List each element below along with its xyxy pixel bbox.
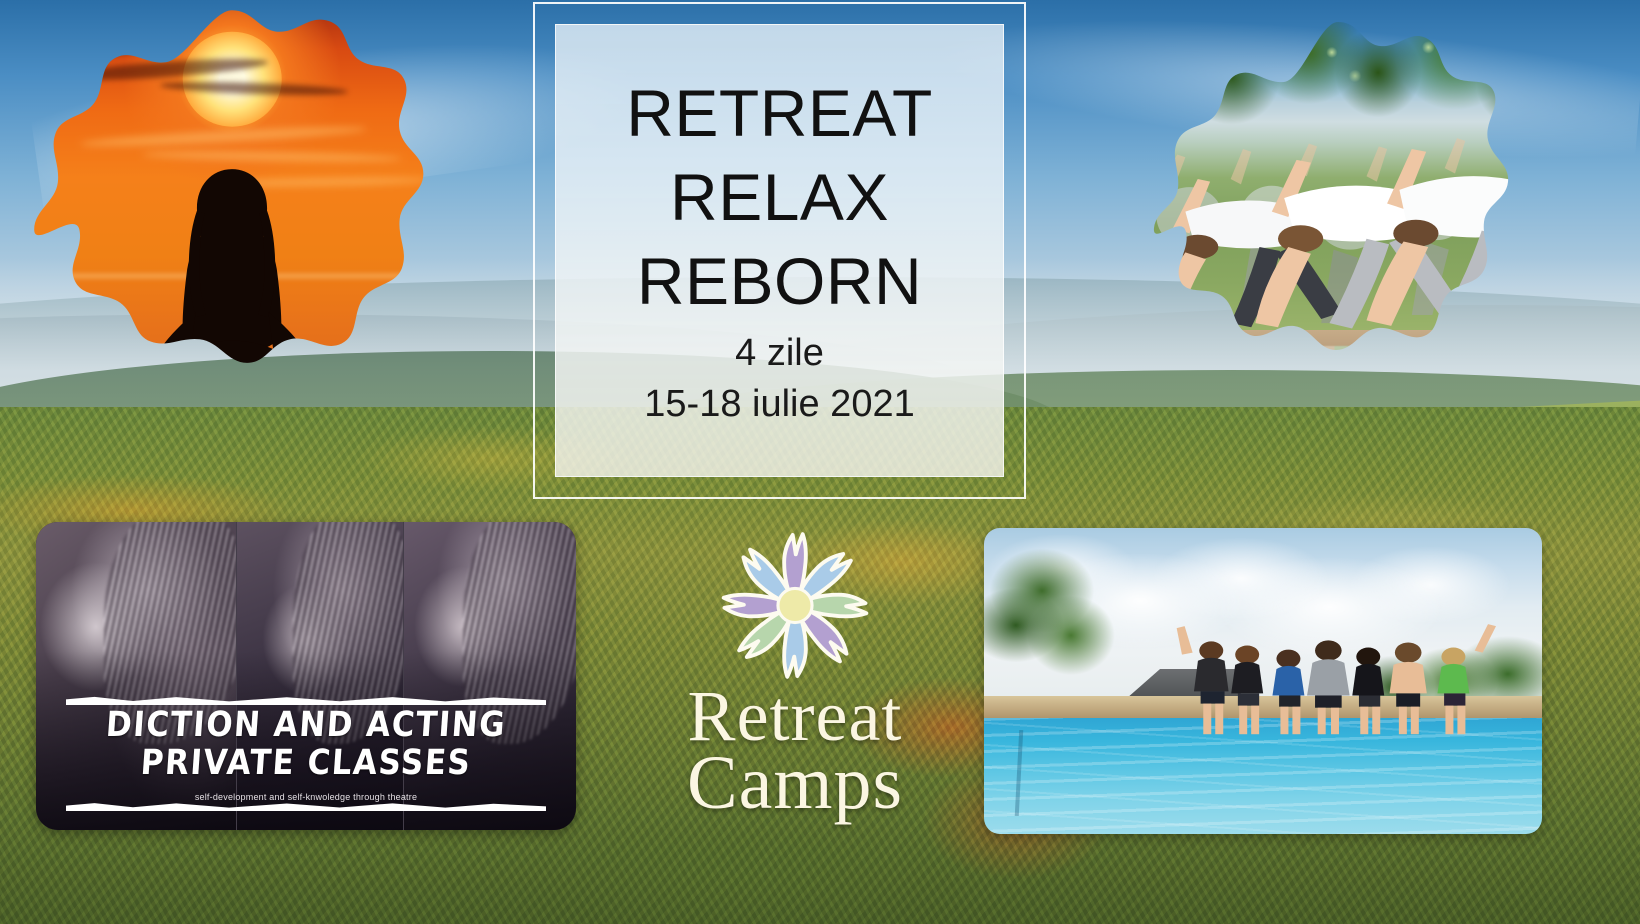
logo-text-line-2: Camps [630, 749, 960, 819]
retreat-poster: RETREAT RELAX REBORN 4 zile 15-18 iulie … [0, 0, 1640, 924]
acting-subtitle: self-development and self-knwoledge thro… [36, 792, 576, 802]
acting-card-text: DICTION AND ACTING PRIVATE CLASSES self-… [36, 707, 576, 803]
yoga-blob-mask [1128, 18, 1548, 418]
logo-text-line-1: Retreat [630, 683, 960, 749]
headline-panel: RETREAT RELAX REBORN 4 zile 15-18 iulie … [533, 2, 1026, 499]
trees-left [984, 546, 1129, 717]
duration-text: 4 zile [735, 328, 824, 379]
flower-icon [680, 528, 910, 683]
acting-classes-card: DICTION AND ACTING PRIVATE CLASSES self-… [36, 522, 576, 830]
headline-line-1: RETREAT [626, 71, 933, 155]
yoga-scene [1128, 18, 1548, 418]
dates-text: 15-18 iulie 2021 [644, 379, 914, 430]
headline-line-3: REBORN [637, 239, 922, 323]
retreat-camps-logo: Retreat Camps [630, 528, 960, 828]
sun-disc [183, 32, 282, 127]
cloud-streak [80, 123, 367, 149]
acting-title-line-2: PRIVATE CLASSES [36, 742, 576, 784]
meditation-blob-mask [8, 6, 456, 436]
headline-panel-inner: RETREAT RELAX REBORN 4 zile 15-18 iulie … [555, 24, 1004, 477]
dark-cloud [53, 38, 188, 62]
yoga-practitioners [1136, 130, 1548, 402]
pool-group-photo [984, 528, 1542, 834]
sunset-sky [8, 6, 456, 436]
acting-title-line-1: DICTION AND ACTING [36, 705, 576, 747]
yoga-class-photo [1128, 18, 1548, 418]
group-of-friends [1174, 620, 1520, 742]
headline-line-2: RELAX [670, 155, 889, 239]
grass-silhouette [26, 376, 438, 428]
meditation-sunset-photo [8, 6, 456, 436]
